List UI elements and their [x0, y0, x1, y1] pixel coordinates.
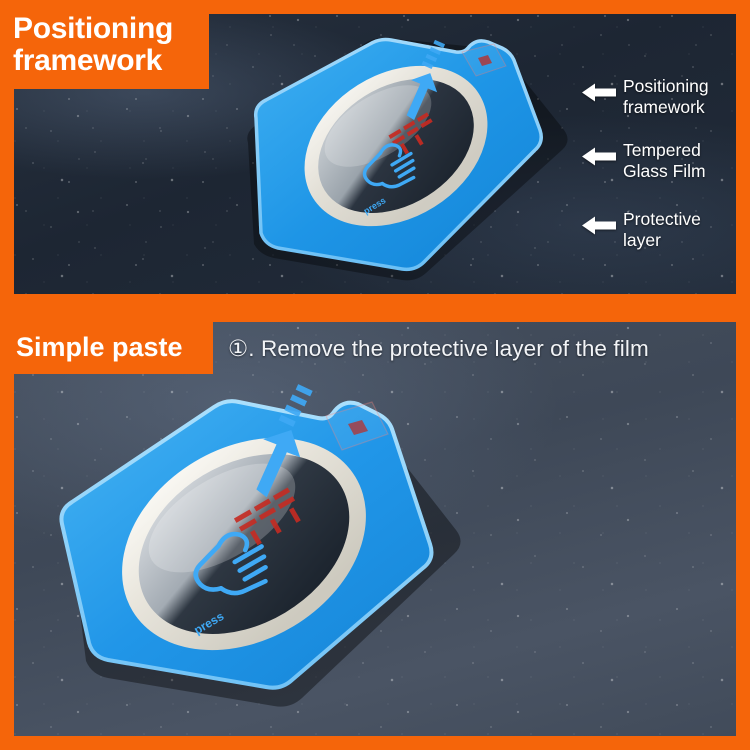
- device-positioning-frame-bottom: press: [34, 372, 534, 712]
- callout-positioning-framework: Positioning framework: [582, 76, 709, 119]
- left-arrow-icon: [582, 147, 616, 166]
- product-infographic: press P: [0, 0, 750, 750]
- instruction-step-1: ①. Remove the protective layer of the fi…: [228, 336, 649, 362]
- callout-tempered-glass-film: Tempered Glass Film: [582, 140, 706, 183]
- callout-protective-layer: Protective layer: [582, 209, 701, 252]
- page-title-simple-paste: Simple paste: [0, 322, 213, 374]
- callout-label: Protective layer: [623, 209, 701, 252]
- left-arrow-icon: [582, 216, 616, 235]
- device-positioning-frame-top: press: [210, 22, 580, 292]
- callout-label: Tempered Glass Film: [623, 140, 706, 183]
- left-arrow-icon: [582, 83, 616, 102]
- panel-simple-paste: press: [14, 322, 736, 736]
- callout-label: Positioning framework: [623, 76, 709, 119]
- page-title-positioning-framework: Positioning framework: [0, 0, 209, 89]
